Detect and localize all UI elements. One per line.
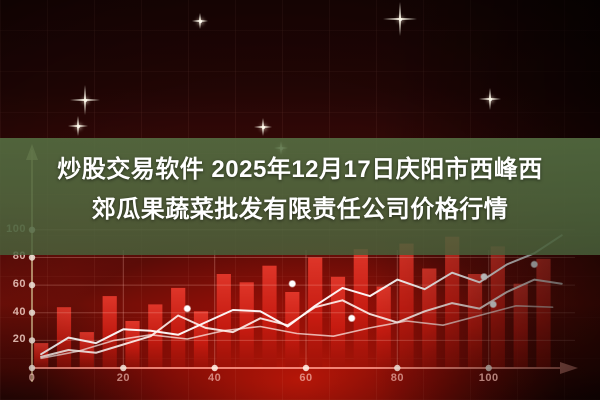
stock-market-banner-image: 20406080100 020406080100 炒股交易软件 2025年12月…	[0, 0, 600, 400]
page-title: 炒股交易软件 2025年12月17日庆阳市西峰西 郊瓜果蔬菜批发有限责任公司价格…	[0, 150, 600, 230]
